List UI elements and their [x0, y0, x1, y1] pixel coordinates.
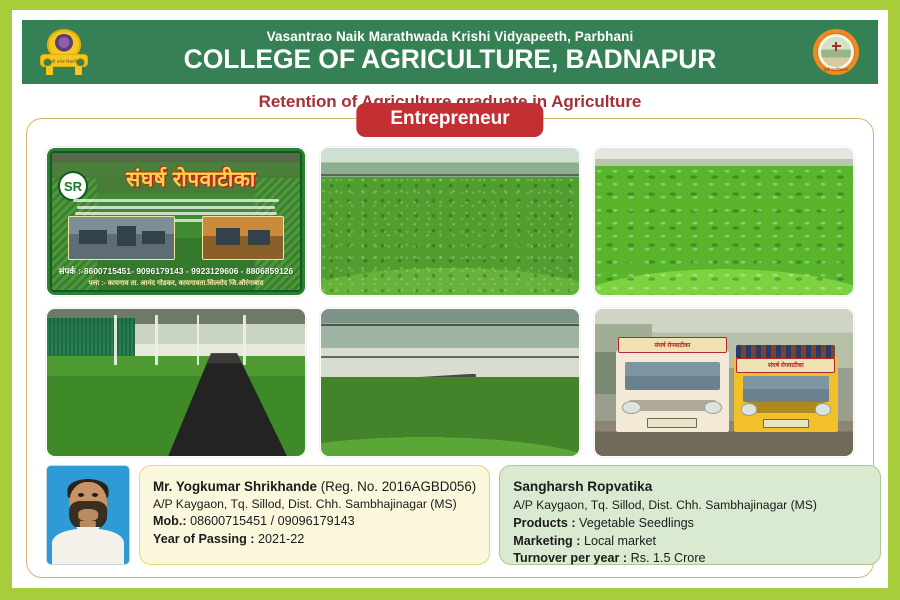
shadehouse-interior-photo	[320, 308, 580, 457]
products-value: Vegetable Seedlings	[579, 516, 694, 530]
business-marketing-line: Marketing : Local market	[513, 533, 867, 551]
business-address: A/P Kaygaon, Tq. Sillod, Dist. Chh. Samb…	[513, 497, 867, 514]
university-name: Vasantrao Naik Marathwada Krishi Vidyape…	[106, 30, 794, 44]
marketing-label: Marketing :	[513, 534, 580, 548]
photo-gallery: SR संघर्ष रोपवाटीका	[46, 147, 854, 457]
seal-caption: कृषी महाविद्यालय	[813, 67, 859, 73]
turnover-label: Turnover per year :	[513, 551, 627, 565]
content-card: Entrepreneur SR संघर्ष रोपवाटीका	[26, 118, 874, 578]
inset-photo-machinery	[68, 216, 175, 260]
marketing-value: Local market	[584, 534, 656, 548]
college-seal-icon: कृषी महाविद्यालय	[813, 29, 859, 75]
nursery-mulch-path-photo	[46, 308, 306, 457]
inset-photo-equipment	[202, 216, 284, 260]
business-name: Sangharsh Ropvatika	[513, 477, 867, 496]
seedling-bed-shadehouse-photo	[320, 147, 580, 296]
turnover-value: Rs. 1.5 Crore	[631, 551, 706, 565]
signboard-title: संघर्ष रोपवाटीका	[88, 165, 294, 193]
student-year-line: Year of Passing : 2021-22	[153, 531, 476, 549]
student-mobile-line: Mob.: 08600715451 / 09096179143	[153, 513, 476, 531]
college-name: COLLEGE OF AGRICULTURE, BADNAPUR	[106, 46, 794, 74]
header-titles: Vasantrao Naik Marathwada Krishi Vidyape…	[106, 30, 794, 74]
broadleaf-seedlings-photo	[594, 147, 854, 296]
signboard-phones: संपर्क :-8600715451- 9096179143 - 992312…	[52, 266, 300, 277]
business-info-box: Sangharsh Ropvatika A/P Kaygaon, Tq. Sil…	[499, 465, 881, 565]
truck-yellow: संघर्ष रोपवाटीका	[734, 356, 837, 432]
poster-inner: कृषी तथेच विद्यापीठ Vasantrao Naik Marat…	[12, 10, 888, 588]
mobile-value: 08600715451 / 09096179143	[190, 514, 355, 528]
mobile-label: Mob.:	[153, 514, 187, 528]
student-name-line: Mr. Yogkumar Shrikhande (Reg. No. 2016AG…	[153, 477, 476, 496]
business-products-line: Products : Vegetable Seedlings	[513, 515, 867, 533]
year-of-passing-value: 2021-22	[258, 532, 304, 546]
poster-root: कृषी तथेच विद्यापीठ Vasantrao Naik Marat…	[0, 0, 900, 600]
sr-logo-icon: SR	[58, 171, 88, 201]
business-turnover-line: Turnover per year : Rs. 1.5 Crore	[513, 550, 867, 568]
products-label: Products :	[513, 516, 575, 530]
truck-two-signboard: संघर्ष रोपवाटीका	[736, 358, 835, 373]
truck-one-signboard: संघर्ष रोपवाटीका	[618, 337, 727, 353]
year-of-passing-label: Year of Passing :	[153, 532, 255, 546]
student-info-box: Mr. Yogkumar Shrikhande (Reg. No. 2016AG…	[139, 465, 490, 565]
header-bar: कृषी तथेच विद्यापीठ Vasantrao Naik Marat…	[22, 20, 878, 84]
info-row: Mr. Yogkumar Shrikhande (Reg. No. 2016AG…	[46, 465, 854, 565]
student-reg-no: (Reg. No. 2016AGBD056)	[321, 479, 477, 494]
delivery-trucks-photo: संघर्ष रोपवाटीका संघर्ष रोपवाटीका	[594, 308, 854, 457]
student-name: Mr. Yogkumar Shrikhande	[153, 479, 317, 494]
status-badge: Entrepreneur	[356, 103, 543, 137]
avatar	[46, 465, 130, 565]
truck-white: संघर्ष रोपवाटीका	[616, 350, 730, 432]
header-left-logo-slot: कृषी तथेच विद्यापीठ	[22, 20, 106, 84]
student-address: A/P Kaygaon, Tq. Sillod, Dist. Chh. Samb…	[153, 496, 476, 513]
nursery-signboard-photo: SR संघर्ष रोपवाटीका	[46, 147, 306, 296]
signboard-address: पत्ता :- कायगाव ता. आनंद गोडकर, कायगावता…	[52, 279, 300, 288]
header-right-logo-slot: कृषी महाविद्यालय	[794, 20, 878, 84]
crest-caption: कृषी तथेच विद्यापीठ	[40, 59, 88, 65]
vnmkv-university-crest-icon: कृषी तथेच विद्यापीठ	[40, 29, 88, 75]
